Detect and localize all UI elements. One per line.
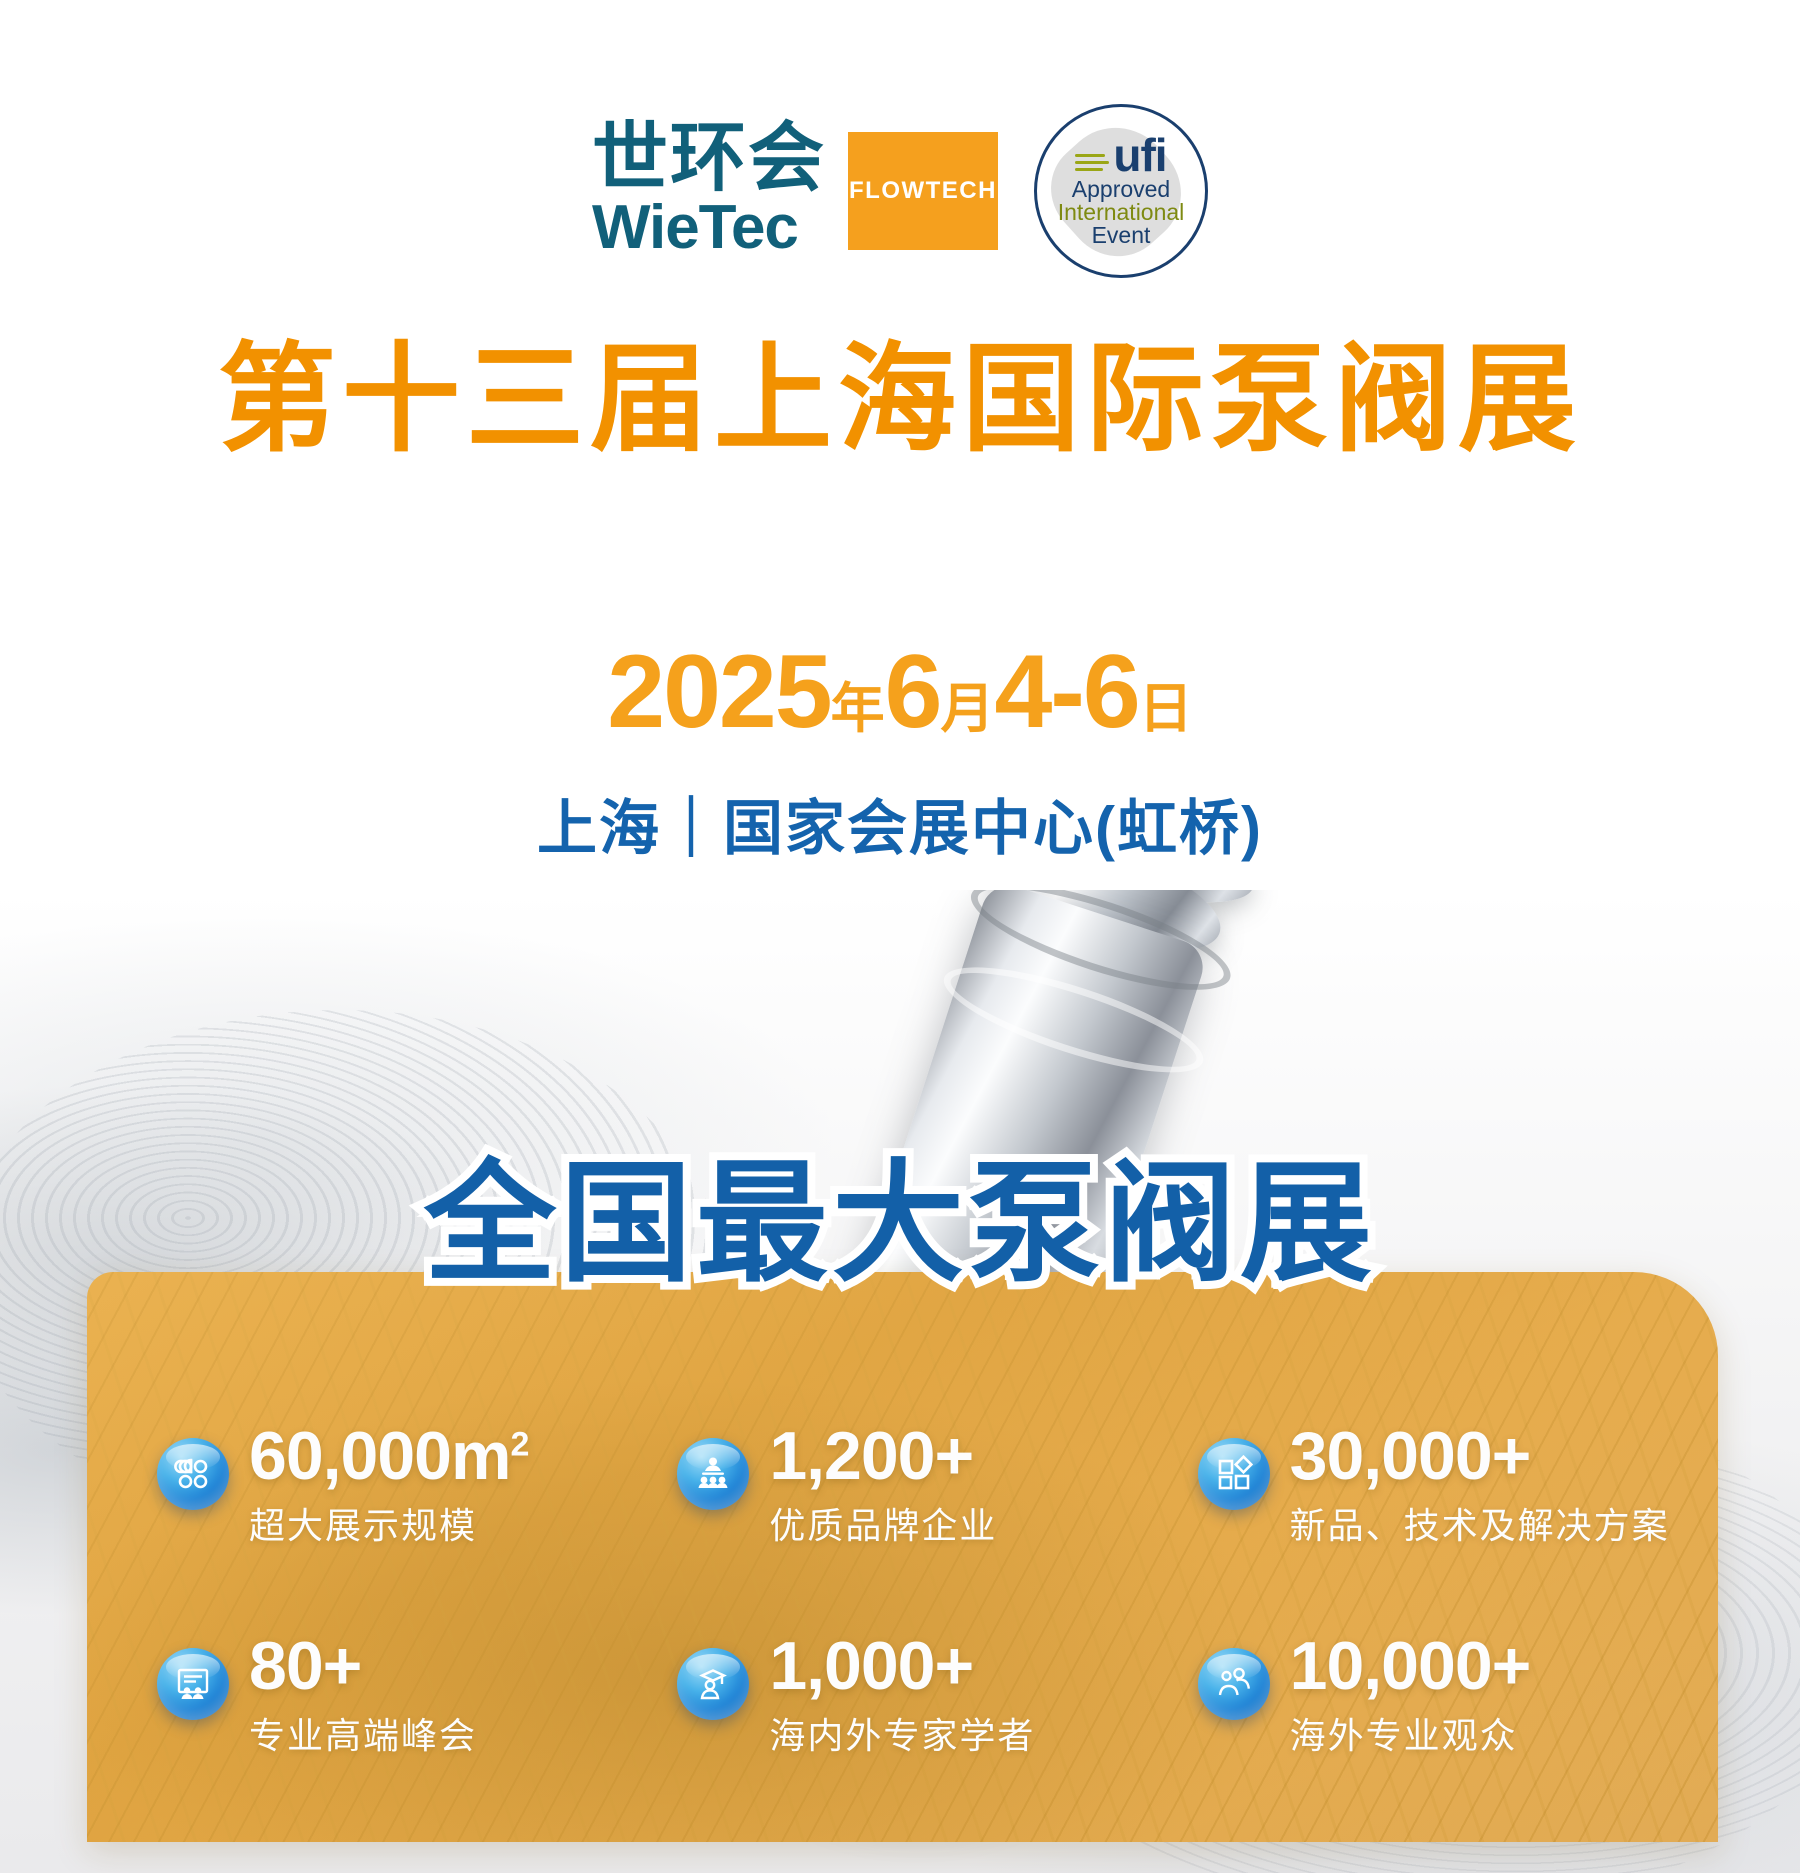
date-year: 2025 xyxy=(607,634,830,750)
stat-item: 1,200+ 优质品牌企业 xyxy=(677,1422,1197,1632)
stat-label: 超大展示规模 xyxy=(249,1497,528,1549)
date-day-suffix: 日 xyxy=(1139,679,1193,739)
stat-number: 30,000+ xyxy=(1290,1422,1670,1491)
event-venue: 上海｜国家会展中心(虹桥) xyxy=(0,780,1800,867)
stat-label: 优质品牌企业 xyxy=(769,1497,997,1549)
stat-number: 1,000+ xyxy=(769,1632,1035,1701)
ufi-line-international: International xyxy=(1058,201,1185,224)
stat-label: 海内外专家学者 xyxy=(769,1707,1035,1759)
page-title: 第十三届上海国际泵阀展 xyxy=(0,336,1800,466)
ufi-line-approved: Approved xyxy=(1072,178,1170,201)
four-leaf-grid-icon xyxy=(157,1438,229,1510)
graduate-scholar-icon xyxy=(677,1648,749,1720)
wietec-logo-cn: 世环会 xyxy=(592,123,826,195)
stats-card: 60,000m2 超大展示规模 1,200+ xyxy=(87,1272,1718,1842)
certificate-people-icon xyxy=(157,1648,229,1720)
ufi-line-event: Event xyxy=(1092,224,1151,247)
ufi-approved-badge: ufi Approved International Event xyxy=(1034,104,1208,278)
stat-number: 10,000+ xyxy=(1290,1632,1531,1701)
stat-number: 60,000m2 xyxy=(249,1422,528,1491)
ufi-wordmark: ufi xyxy=(1113,135,1166,176)
date-year-suffix: 年 xyxy=(831,679,885,739)
stat-item: 80+ 专业高端峰会 xyxy=(157,1632,677,1842)
group-people-icon xyxy=(1198,1648,1270,1720)
stat-item: 30,000+ 新品、技术及解决方案 xyxy=(1198,1422,1718,1632)
hero-headline: 全国最大泵阀展 xyxy=(0,1158,1800,1290)
event-date: 2025年6月4-6日 xyxy=(0,640,1800,744)
stat-item: 10,000+ 海外专业观众 xyxy=(1198,1632,1718,1842)
wietec-logo: 世环会 WieTec xyxy=(592,123,826,259)
stats-grid: 60,000m2 超大展示规模 1,200+ xyxy=(87,1422,1718,1842)
date-month-suffix: 月 xyxy=(940,679,994,739)
date-days: 4-6 xyxy=(994,634,1138,750)
flowtech-logo-text: FLOWTECH xyxy=(849,177,997,205)
stat-item: 1,000+ 海内外专家学者 xyxy=(677,1632,1197,1842)
ufi-rays-icon xyxy=(1075,150,1111,176)
logo-strip: 世环会 WieTec FLOWTECH ufi Approved Interna… xyxy=(0,96,1800,286)
stat-number: 80+ xyxy=(249,1632,477,1701)
stat-item: 60,000m2 超大展示规模 xyxy=(157,1422,677,1632)
product-tiles-icon xyxy=(1198,1438,1270,1510)
stat-number: 1,200+ xyxy=(769,1422,997,1491)
stat-label: 专业高端峰会 xyxy=(249,1707,477,1759)
wietec-logo-en: WieTec xyxy=(592,197,798,259)
date-month: 6 xyxy=(885,634,941,750)
flowtech-logo: FLOWTECH xyxy=(848,132,998,250)
stat-label: 海外专业观众 xyxy=(1290,1707,1531,1759)
presenter-audience-icon xyxy=(677,1438,749,1510)
poster-root: 世环会 WieTec FLOWTECH ufi Approved Interna… xyxy=(0,0,1800,1873)
stat-label: 新品、技术及解决方案 xyxy=(1290,1497,1670,1549)
